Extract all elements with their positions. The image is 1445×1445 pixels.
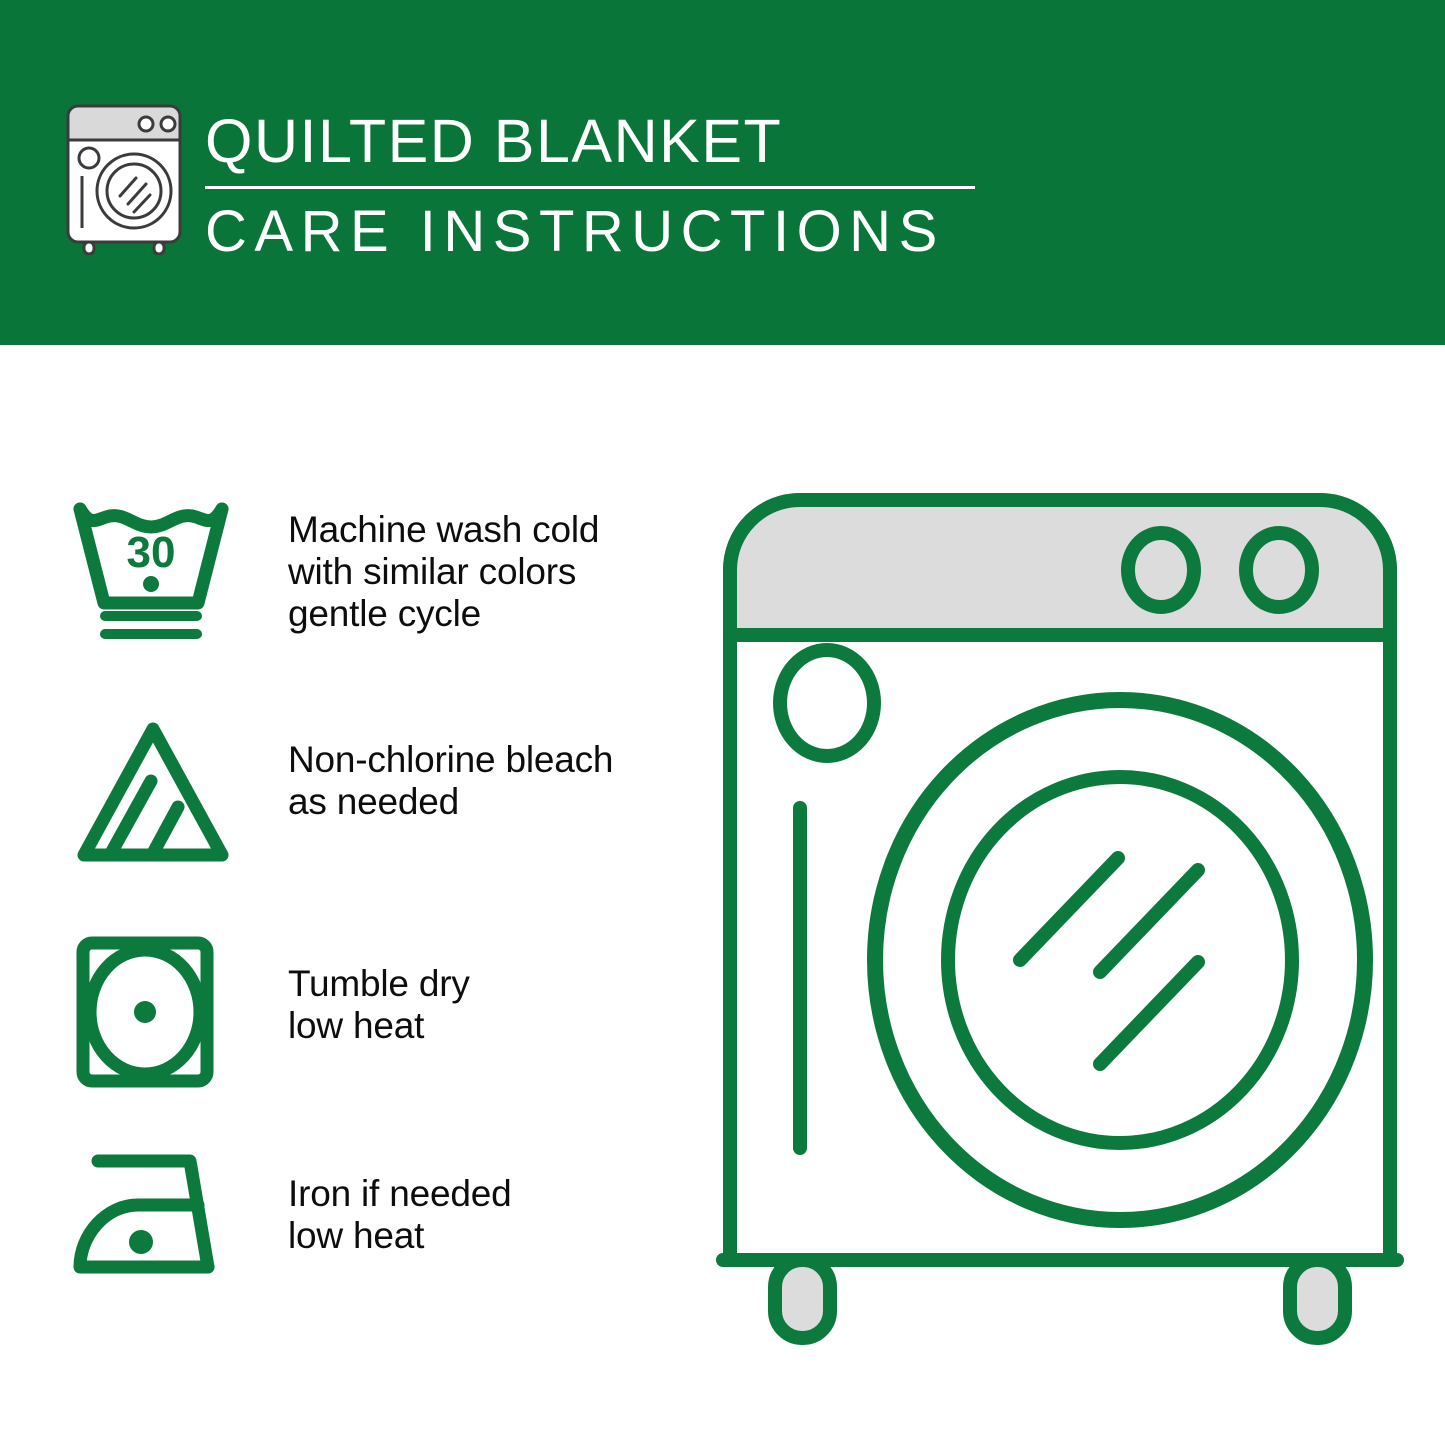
care-label-tumble-dry: Tumble dry low heat	[288, 963, 683, 1047]
care-line: Machine wash cold	[288, 509, 683, 551]
header-title-block: QUILTED BLANKET CARE INSTRUCTIONS	[205, 104, 995, 265]
wash-tub-30-gentle-icon: 30	[68, 495, 238, 650]
washer-leg-left	[775, 1260, 830, 1338]
page-title: QUILTED BLANKET	[205, 104, 995, 178]
washer-leg-right	[1290, 1260, 1345, 1338]
care-instruction-list: 30 Machine wash cold with similar colors…	[0, 345, 690, 1445]
control-knob-1	[1128, 533, 1194, 607]
care-line: Tumble dry	[288, 963, 683, 1005]
care-line: low heat	[288, 1215, 683, 1257]
bleach-triangle-non-chlorine-icon	[68, 715, 238, 870]
care-instructions-page: QUILTED BLANKET CARE INSTRUCTIONS	[0, 0, 1445, 1445]
washing-machine-illustration	[700, 460, 1420, 1360]
care-line: Iron if needed	[288, 1173, 683, 1215]
care-label-iron: Iron if needed low heat	[288, 1173, 683, 1257]
header-band: QUILTED BLANKET CARE INSTRUCTIONS	[0, 0, 1445, 345]
wash-temperature-label: 30	[127, 528, 176, 577]
page-subtitle: CARE INSTRUCTIONS	[205, 199, 995, 265]
care-line: gentle cycle	[288, 593, 683, 635]
title-divider	[205, 186, 975, 189]
care-line: Non-chlorine bleach	[288, 739, 683, 781]
care-line: low heat	[288, 1005, 683, 1047]
tumble-dry-low-heat-icon	[68, 935, 238, 1090]
control-knob-2	[1246, 533, 1312, 607]
iron-low-heat-icon	[68, 1145, 238, 1300]
care-label-machine-wash: Machine wash cold with similar colors ge…	[288, 509, 683, 635]
dispenser-icon	[780, 650, 874, 756]
care-line: with similar colors	[288, 551, 683, 593]
care-label-bleach: Non-chlorine bleach as needed	[288, 739, 683, 823]
washing-machine-icon	[62, 100, 192, 255]
care-line: as needed	[288, 781, 683, 823]
